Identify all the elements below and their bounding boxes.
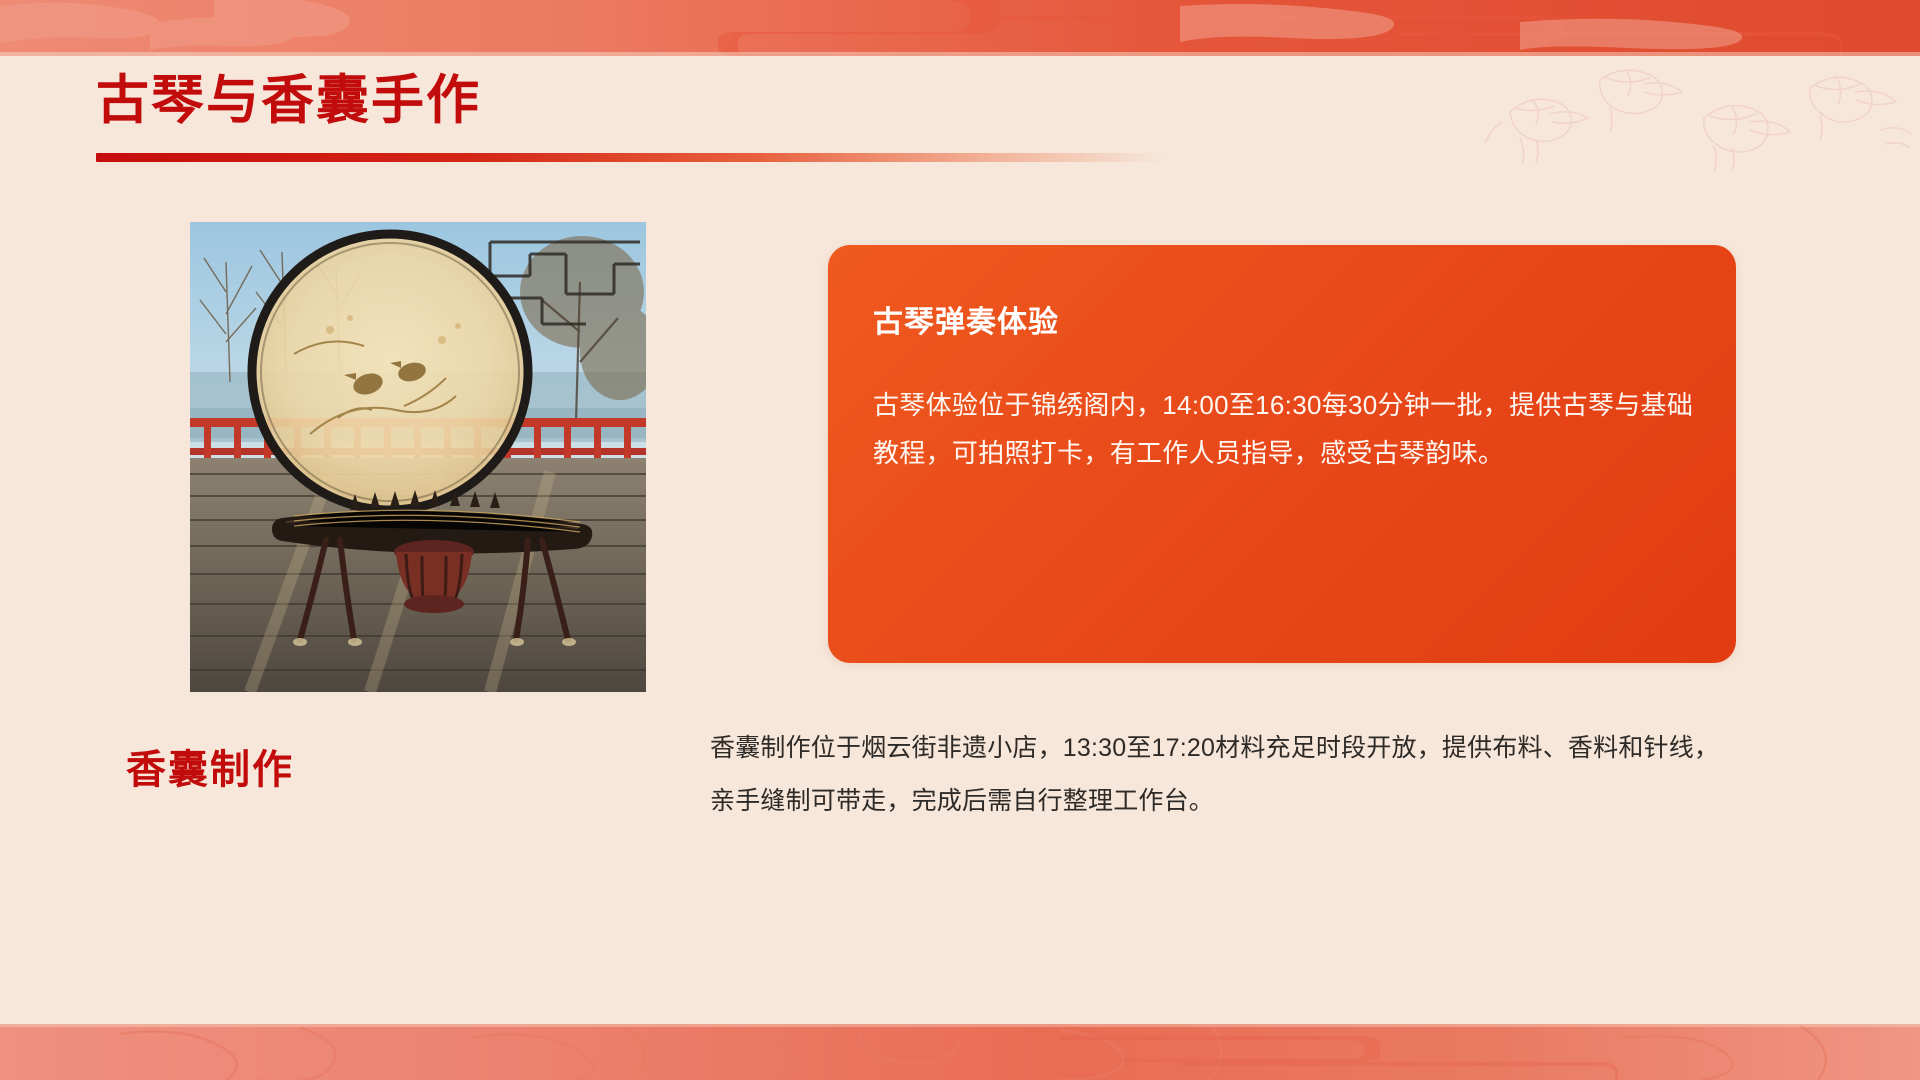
- title-block: 古琴与香囊手作: [96, 70, 1196, 162]
- card-body-text: 古琴体验位于锦绣阁内，14:00至16:30每30分钟一批，提供古琴与基础教程，…: [873, 381, 1703, 477]
- page-title: 古琴与香囊手作: [96, 70, 1196, 133]
- card-heading: 古琴弹奏体验: [873, 297, 1059, 341]
- guqin-photo: [190, 222, 646, 692]
- sachet-section-heading: 香囊制作: [126, 737, 294, 795]
- sachet-section-body: 香囊制作位于烟云街非遗小店，13:30至17:20材料充足时段开放，提供布料、香…: [710, 722, 1726, 828]
- slide-root: 古琴与香囊手作: [0, 0, 1920, 1080]
- bottom-decorative-banner: [0, 1024, 1920, 1080]
- guqin-experience-card: 古琴弹奏体验 古琴体验位于锦绣阁内，14:00至16:30每30分钟一批，提供古…: [828, 245, 1736, 663]
- top-decorative-banner: [0, 0, 1920, 56]
- bird-line-art-watermark: [1480, 60, 1920, 210]
- title-underline-rule: [96, 153, 1166, 162]
